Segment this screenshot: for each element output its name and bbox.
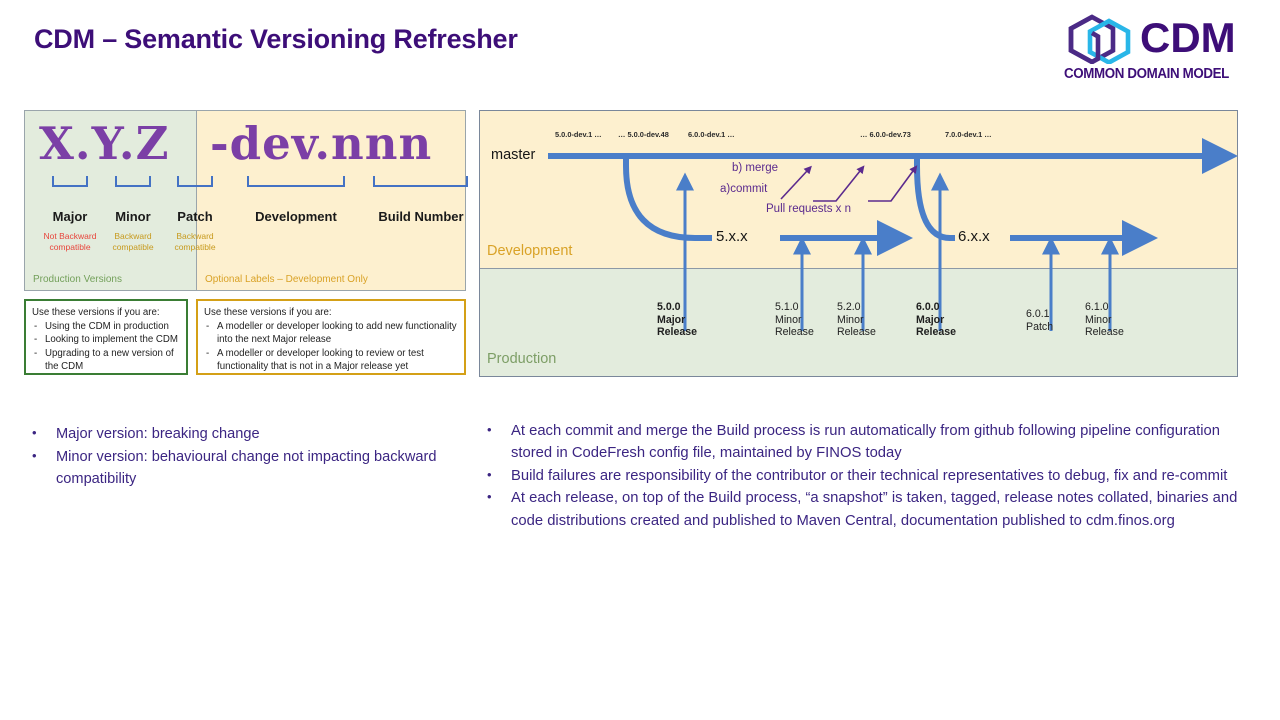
segment-label-major: Major	[38, 209, 102, 224]
list-item: Upgrading to a new version of the CDM	[32, 347, 180, 373]
dev-version-tag: 6.0.0-dev.1 …	[688, 130, 735, 139]
list-item: Build failures are responsibility of the…	[482, 465, 1242, 487]
cdm-hexagon-logo-icon	[1062, 14, 1136, 64]
dev-version-tag: 7.0.0-dev.1 …	[945, 130, 992, 139]
release-version: 6.1.0	[1085, 301, 1124, 314]
logo-subtitle: COMMON DOMAIN MODEL	[1064, 66, 1229, 82]
bullet-list-versioning: Major version: breaking change Minor ver…	[27, 423, 457, 491]
branch-label-6xx: 6.x.x	[958, 228, 990, 245]
bracket-development	[247, 176, 345, 187]
version-anatomy-figure: X.Y.Z -dev.nnn Major Minor Patch Develop…	[24, 110, 466, 291]
release-marker-500: 5.0.0 Major Release	[657, 301, 697, 339]
segment-label-build-number: Build Number	[365, 209, 477, 224]
logo-wordmark: CDM	[1140, 14, 1236, 62]
branching-strategy-diagram: master 5.0.0-dev.1 … … 5.0.0-dev.48 6.0.…	[479, 110, 1238, 377]
advice-list: Using the CDM in production Looking to i…	[32, 320, 180, 373]
dev-version-tag: … 5.0.0-dev.48	[618, 130, 669, 139]
release-marker-601: 6.0.1 Patch	[1026, 308, 1053, 333]
figure-footer-production: Production Versions	[33, 274, 122, 285]
release-marker-600: 6.0.0 Major Release	[916, 301, 956, 339]
bracket-major	[52, 176, 88, 187]
segment-note-patch: Backward compatible	[167, 231, 223, 253]
release-suffix: Release	[837, 326, 876, 339]
advice-heading: Use these versions if you are:	[32, 306, 180, 319]
zone-label-production: Production	[487, 351, 556, 367]
release-version: 5.0.0	[657, 301, 697, 314]
release-version: 5.2.0	[837, 301, 876, 314]
cdm-logo: CDM COMMON DOMAIN MODEL	[1062, 12, 1242, 92]
segment-label-patch: Patch	[163, 209, 227, 224]
release-suffix: Release	[775, 326, 814, 339]
release-suffix: Release	[916, 326, 956, 339]
bracket-build-number	[373, 176, 468, 187]
release-kind: Major	[657, 314, 697, 327]
release-kind: Minor	[1085, 314, 1124, 327]
release-kind: Minor	[837, 314, 876, 327]
segment-note-major: Not Backward compatible	[42, 231, 98, 253]
page-title: CDM – Semantic Versioning Refresher	[34, 24, 518, 55]
list-item: At each commit and merge the Build proce…	[482, 420, 1242, 465]
list-item: A modeller or developer looking to add n…	[204, 320, 458, 346]
release-version: 5.1.0	[775, 301, 814, 314]
pr-label-merge: b) merge	[732, 162, 778, 174]
segment-label-development: Development	[240, 209, 352, 224]
dev-version-tag: … 6.0.0-dev.73	[860, 130, 911, 139]
advice-list: A modeller or developer looking to add n…	[204, 320, 458, 373]
release-kind: Major	[916, 314, 956, 327]
branch-label-5xx: 5.x.x	[716, 228, 748, 245]
list-item: Major version: breaking change	[27, 423, 457, 446]
zone-label-development: Development	[487, 243, 572, 259]
list-item: Using the CDM in production	[32, 320, 180, 333]
list-item: Minor version: behavioural change not im…	[27, 446, 457, 491]
version-token-development: -dev.nnn	[210, 117, 432, 170]
list-item: A modeller or developer looking to revie…	[204, 347, 458, 373]
bracket-minor	[115, 176, 151, 187]
bullet-list: Major version: breaking change Minor ver…	[27, 423, 457, 491]
list-item: Looking to implement the CDM	[32, 333, 180, 346]
bracket-patch	[177, 176, 213, 187]
segment-label-minor: Minor	[101, 209, 165, 224]
release-suffix: Release	[1085, 326, 1124, 339]
advice-heading: Use these versions if you are:	[204, 306, 458, 319]
pr-label-commit: a)commit	[720, 183, 767, 195]
segment-note-minor: Backward compatible	[105, 231, 161, 253]
figure-footer-development: Optional Labels – Development Only	[205, 274, 368, 285]
release-marker-520: 5.2.0 Minor Release	[837, 301, 876, 339]
dev-version-tag: 5.0.0-dev.1 …	[555, 130, 602, 139]
bullet-list-build-process: At each commit and merge the Build proce…	[482, 420, 1242, 532]
release-suffix: Release	[657, 326, 697, 339]
pr-label-pull-requests: Pull requests x n	[766, 203, 851, 215]
bullet-list: At each commit and merge the Build proce…	[482, 420, 1242, 532]
list-item: At each release, on top of the Build pro…	[482, 487, 1242, 532]
advice-box-production: Use these versions if you are: Using the…	[24, 299, 188, 375]
version-token-production: X.Y.Z	[39, 117, 169, 170]
release-marker-510: 5.1.0 Minor Release	[775, 301, 814, 339]
release-marker-610: 6.1.0 Minor Release	[1085, 301, 1124, 339]
release-kind: Patch	[1026, 321, 1053, 334]
release-version: 6.0.0	[916, 301, 956, 314]
release-kind: Minor	[775, 314, 814, 327]
advice-box-development: Use these versions if you are: A modelle…	[196, 299, 466, 375]
master-branch-label: master	[491, 147, 535, 163]
release-version: 6.0.1	[1026, 308, 1053, 321]
